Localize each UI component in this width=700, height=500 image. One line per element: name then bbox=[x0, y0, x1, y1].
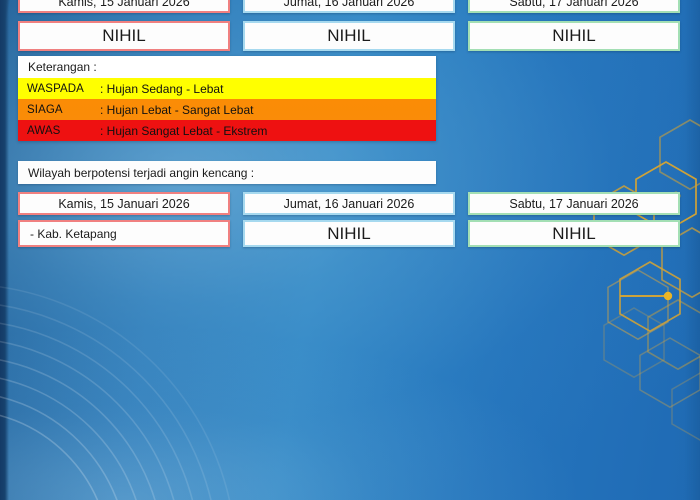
legend-level-siaga: SIAGA bbox=[18, 104, 100, 116]
rain-forecast-value-1: NIHIL bbox=[18, 21, 230, 51]
wind-forecast-date-1: Kamis, 15 Januari 2026 bbox=[18, 192, 230, 215]
wind-forecast-row: Kamis, 15 Januari 2026 - Kab. Ketapang J… bbox=[0, 192, 700, 247]
rain-forecast-column-2: Jumat, 16 Januari 2026 NIHIL bbox=[243, 0, 455, 51]
wind-forecast-date-2: Jumat, 16 Januari 2026 bbox=[243, 192, 455, 215]
rain-forecast-date-2: Jumat, 16 Januari 2026 bbox=[243, 0, 455, 13]
wind-forecast-value-2: NIHIL bbox=[243, 220, 455, 247]
wind-forecast-value-1: - Kab. Ketapang bbox=[18, 220, 230, 247]
wind-forecast-column-3: Sabtu, 17 Januari 2026 NIHIL bbox=[468, 192, 680, 247]
legend-description-waspada: : Hujan Sedang - Lebat bbox=[100, 82, 223, 96]
legend-row-siaga: SIAGA : Hujan Lebat - Sangat Lebat bbox=[18, 99, 436, 120]
rain-forecast-column-1: Kamis, 15 Januari 2026 NIHIL bbox=[18, 0, 230, 51]
rain-forecast-row: Kamis, 15 Januari 2026 NIHIL Jumat, 16 J… bbox=[0, 0, 700, 51]
legend-level-awas: AWAS bbox=[18, 125, 100, 137]
legend-row-awas: AWAS : Hujan Sangat Lebat - Ekstrem bbox=[18, 120, 436, 141]
legend-level-waspada: WASPADA bbox=[18, 83, 100, 95]
rain-forecast-value-3: NIHIL bbox=[468, 21, 680, 51]
legend-description-siaga: : Hujan Lebat - Sangat Lebat bbox=[100, 103, 253, 117]
legend-table: Keterangan : WASPADA : Hujan Sedang - Le… bbox=[18, 56, 436, 141]
wind-forecast-column-2: Jumat, 16 Januari 2026 NIHIL bbox=[243, 192, 455, 247]
wind-forecast-date-3: Sabtu, 17 Januari 2026 bbox=[468, 192, 680, 215]
wind-section-title: Wilayah berpotensi terjadi angin kencang… bbox=[18, 161, 436, 184]
rain-forecast-date-3: Sabtu, 17 Januari 2026 bbox=[468, 0, 680, 13]
legend-title: Keterangan : bbox=[18, 56, 436, 78]
rain-forecast-date-1: Kamis, 15 Januari 2026 bbox=[18, 0, 230, 13]
rain-forecast-column-3: Sabtu, 17 Januari 2026 NIHIL bbox=[468, 0, 680, 51]
wind-forecast-value-3: NIHIL bbox=[468, 220, 680, 247]
rain-forecast-value-2: NIHIL bbox=[243, 21, 455, 51]
legend-row-waspada: WASPADA : Hujan Sedang - Lebat bbox=[18, 78, 436, 99]
legend-description-awas: : Hujan Sangat Lebat - Ekstrem bbox=[100, 124, 267, 138]
wind-forecast-column-1: Kamis, 15 Januari 2026 - Kab. Ketapang bbox=[18, 192, 230, 247]
